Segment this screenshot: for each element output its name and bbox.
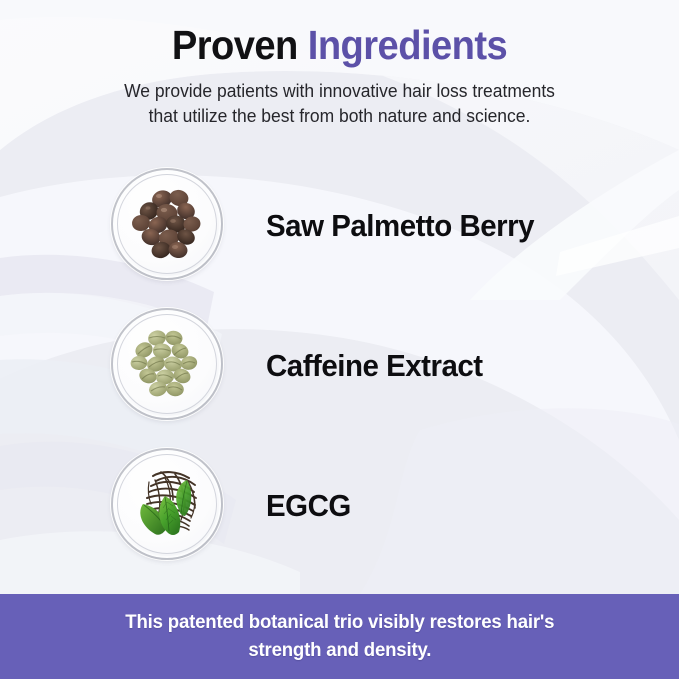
ingredient-row: Saw Palmetto Berry xyxy=(0,156,679,296)
petri-dish-icon xyxy=(111,448,223,560)
ingredient-row: Caffeine Extract xyxy=(0,296,679,436)
footer-message: This patented botanical trio visibly res… xyxy=(125,609,554,665)
green-tea-leaves-icon xyxy=(111,448,223,560)
page-subtitle: We provide patients with innovative hair… xyxy=(17,78,662,128)
ingredients-infographic: Proven Ingredients We provide patients w… xyxy=(0,0,679,679)
ingredient-row: EGCG xyxy=(0,436,679,576)
ingredient-list: Saw Palmetto Berry xyxy=(0,156,679,576)
footer-message-line2: strength and density. xyxy=(125,637,554,665)
footer-message-line1: This patented botanical trio visibly res… xyxy=(125,609,554,637)
page-header: Proven Ingredients We provide patients w… xyxy=(0,0,679,128)
ingredient-label: Caffeine Extract xyxy=(266,348,483,384)
page-title-part2: Ingredients xyxy=(308,22,507,68)
petri-dish-icon xyxy=(111,308,223,420)
saw-palmetto-berries-icon xyxy=(111,168,223,280)
page-title-part1: Proven xyxy=(172,22,308,68)
ingredient-label: EGCG xyxy=(266,488,351,524)
ingredient-label: Saw Palmetto Berry xyxy=(266,208,534,244)
page-subtitle-line1: We provide patients with innovative hair… xyxy=(17,78,662,103)
footer-banner: This patented botanical trio visibly res… xyxy=(0,594,679,679)
green-coffee-beans-icon xyxy=(111,308,223,420)
petri-dish-icon xyxy=(111,168,223,280)
page-title: Proven Ingredients xyxy=(24,24,655,67)
page-subtitle-line2: that utilize the best from both nature a… xyxy=(17,103,662,128)
